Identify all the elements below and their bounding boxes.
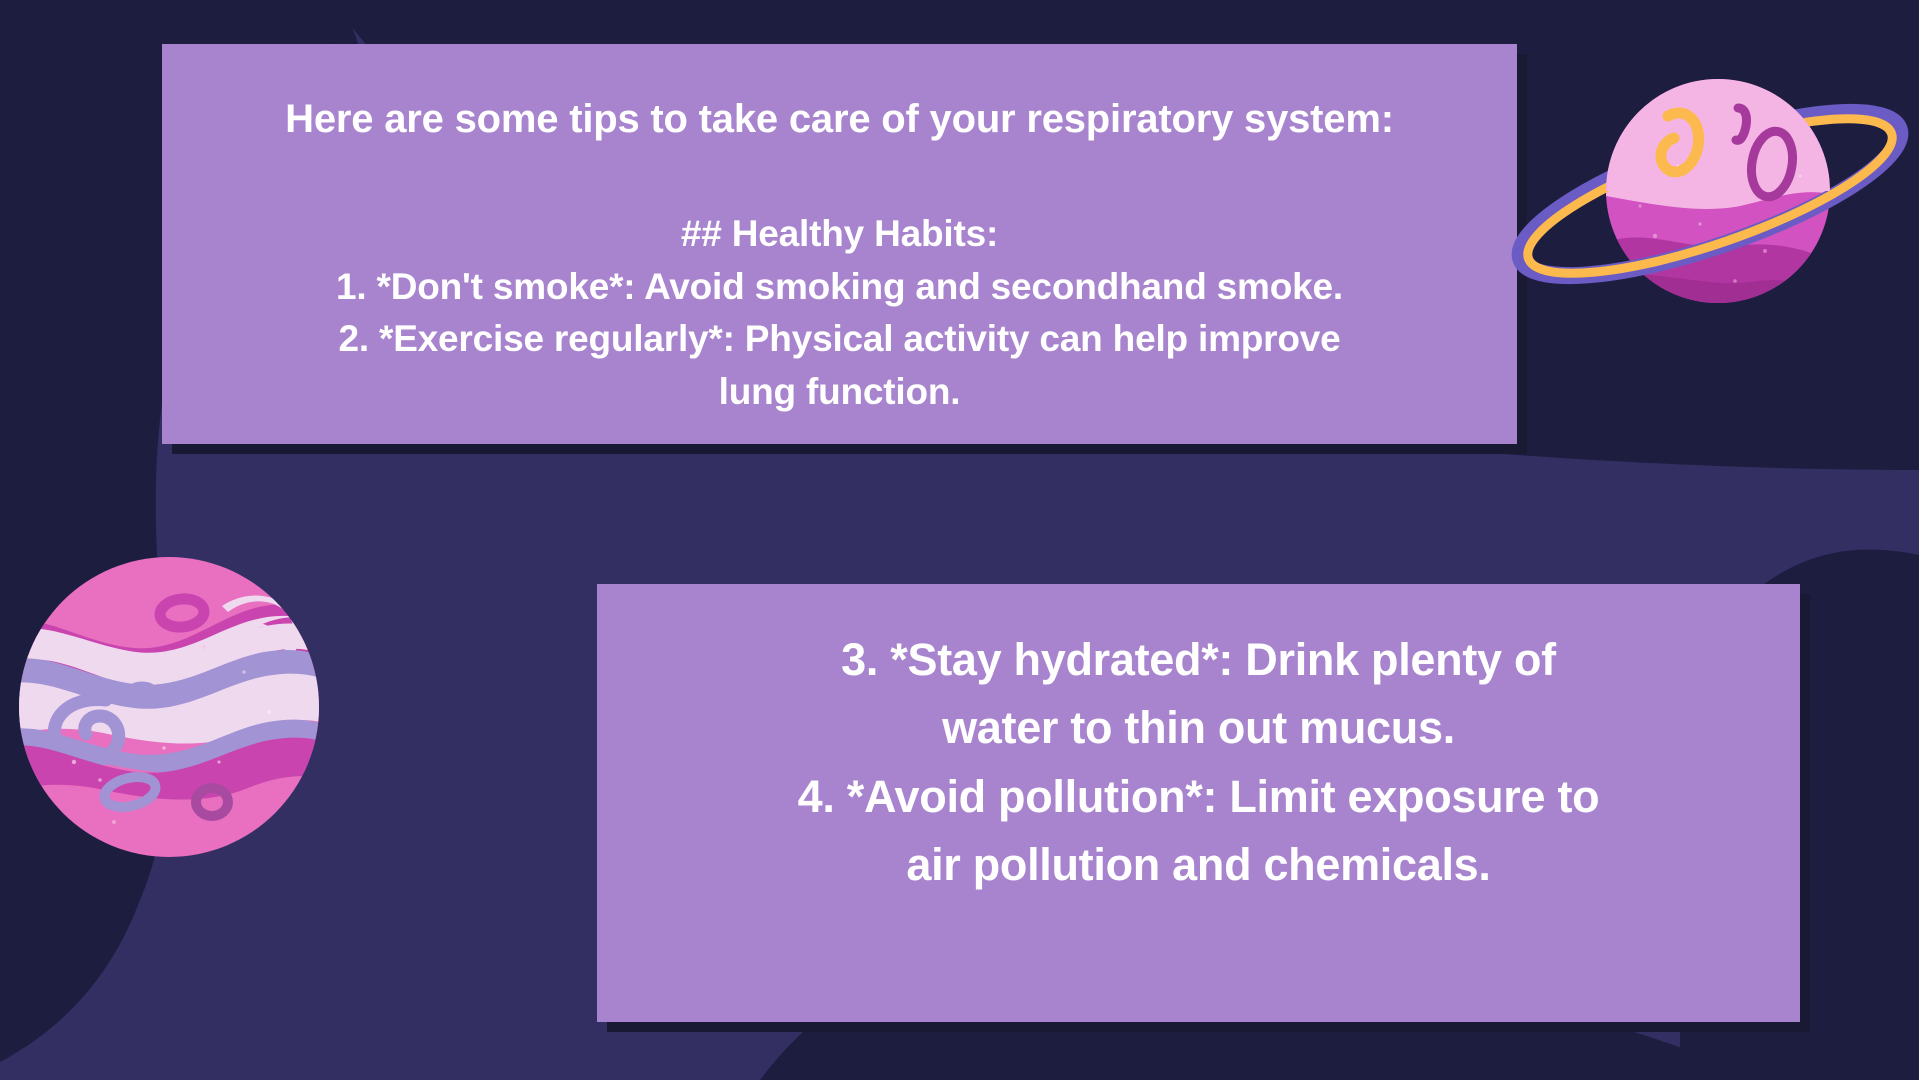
card-one-line-1: ## Healthy Habits: <box>198 208 1481 261</box>
card-one-line-2: 1. *Don't smoke*: Avoid smoking and seco… <box>198 261 1481 314</box>
card-two-line-2: water to thin out mucus. <box>637 694 1760 762</box>
slide-canvas: Here are some tips to take care of your … <box>0 0 1919 1080</box>
card-two-line-3: 4. *Avoid pollution*: Limit exposure to <box>637 763 1760 831</box>
card-one-spacer <box>198 144 1481 208</box>
card-one-line-4: lung function. <box>198 366 1481 419</box>
tips-card-two[interactable]: 3. *Stay hydrated*: Drink plenty of wate… <box>597 584 1800 1022</box>
card-two-line-1: 3. *Stay hydrated*: Drink plenty of <box>637 626 1760 694</box>
banded-planet-icon <box>14 552 324 862</box>
card-one-line-3: 2. *Exercise regularly*: Physical activi… <box>198 313 1481 366</box>
tips-card-one[interactable]: Here are some tips to take care of your … <box>162 44 1517 444</box>
saturn-light-cap <box>1606 64 1830 209</box>
card-one-heading: Here are some tips to take care of your … <box>198 94 1481 144</box>
saturn-planet-icon <box>1500 46 1919 336</box>
card-two-line-4: air pollution and chemicals. <box>637 831 1760 899</box>
